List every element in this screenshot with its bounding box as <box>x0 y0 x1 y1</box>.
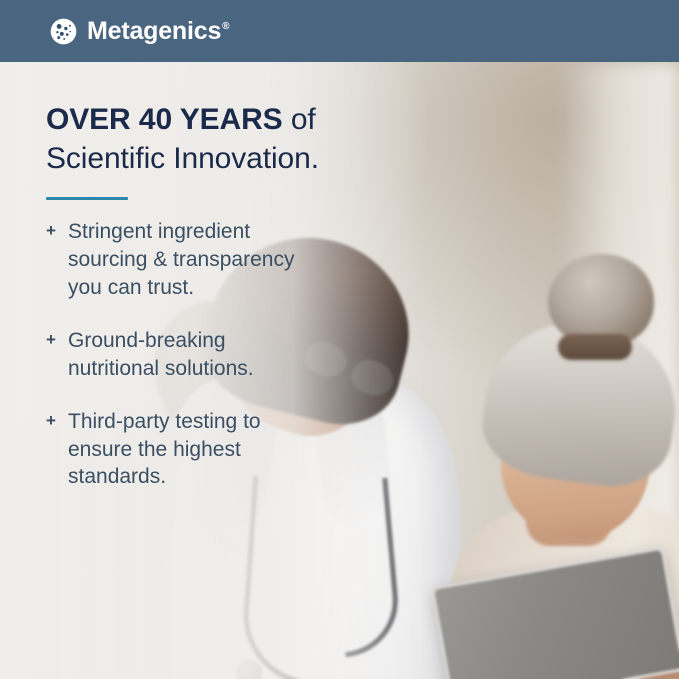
trademark-symbol: ® <box>222 21 229 32</box>
headline-emphasis: OVER 40 YEARS <box>46 103 283 136</box>
stethoscope-chestpiece <box>236 660 262 679</box>
page-title: OVER 40 YEARS ofScientific Innovation. <box>46 100 376 178</box>
headline-line-two: Scientific Innovation. <box>46 142 319 175</box>
metagenics-molecule-circle-icon <box>50 18 77 45</box>
brand-name: Metagenics® <box>87 19 229 44</box>
headline-rest: of <box>283 103 316 136</box>
list-item: + Third-party testing to ensure the high… <box>46 408 376 492</box>
plus-icon: + <box>46 327 68 352</box>
patient-hair-tie <box>558 334 632 360</box>
list-item: + Stringent ingredient sourcing & transp… <box>46 218 376 302</box>
list-item: + Ground-breaking nutritional solutions. <box>46 327 376 383</box>
plus-icon: + <box>46 408 68 433</box>
marketing-copy-block: OVER 40 YEARS ofScientific Innovation. +… <box>46 100 376 491</box>
metagenics-advertisement: Metagenics® OVER 40 YEARS ofScientific I… <box>0 0 679 679</box>
benefits-list: + Stringent ingredient sourcing & transp… <box>46 218 376 491</box>
plus-icon: + <box>46 218 68 243</box>
list-item-label: Third-party testing to ensure the highes… <box>68 408 318 492</box>
brand-lockup[interactable]: Metagenics® <box>50 18 229 45</box>
list-item-label: Ground-breaking nutritional solutions. <box>68 327 318 383</box>
accent-divider <box>46 197 128 200</box>
list-item-label: Stringent ingredient sourcing & transpar… <box>68 218 318 302</box>
brand-name-text: Metagenics <box>87 17 221 45</box>
brand-header-bar: Metagenics® <box>0 0 679 62</box>
